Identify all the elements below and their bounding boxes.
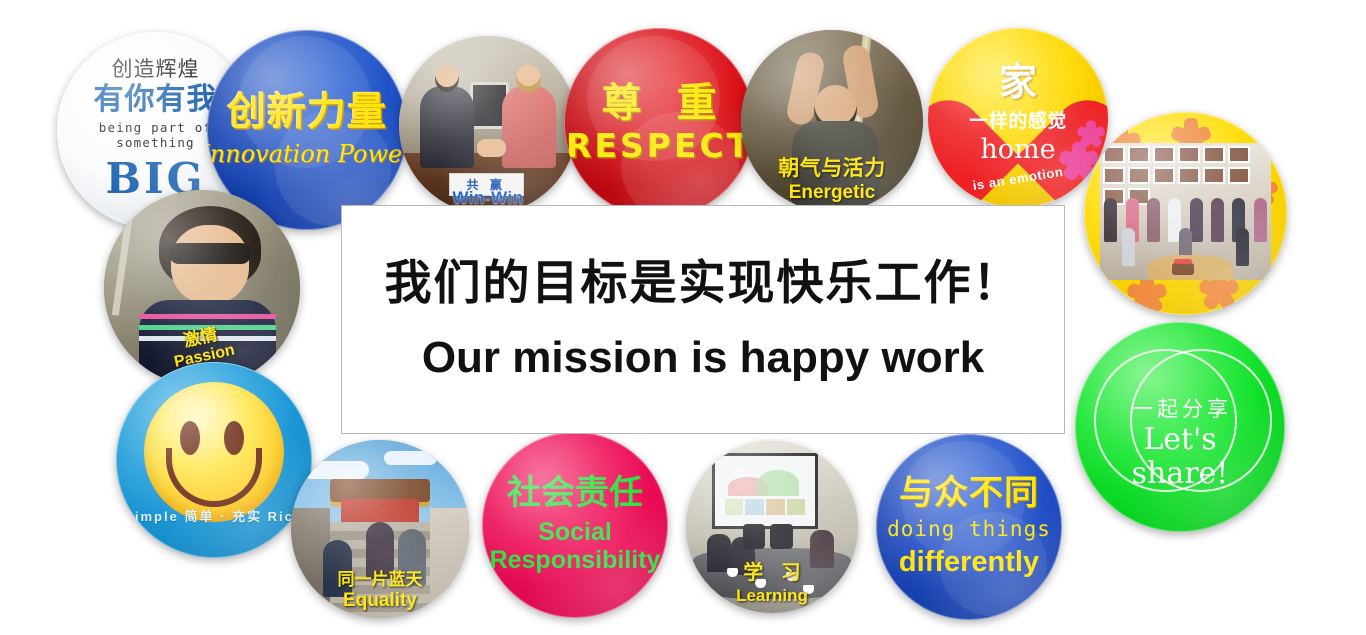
equality-en: Equality <box>291 590 469 612</box>
differently-en-2: differently <box>899 546 1039 579</box>
energetic-en: Energetic <box>741 182 923 204</box>
social-en-1: Social <box>538 519 612 547</box>
badge-equality[interactable]: 同一片蓝天 Equality <box>291 440 469 618</box>
badge-learning[interactable]: 学 习 Learning <box>686 441 858 613</box>
culture-wall-canvas: 创造辉煌 有你有我 being part of something BIG 创新… <box>0 0 1366 635</box>
flower-icon <box>1064 142 1094 172</box>
team-photo-image <box>1100 143 1271 280</box>
social-en-2: Responsibility <box>490 547 661 575</box>
smiley-caption-arc: Simple 简单 · 充实 Rich <box>116 506 312 550</box>
mission-line-cn: 我们的目标是实现快乐工作！ <box>385 256 1022 312</box>
differently-en-1: doing things <box>887 517 1051 541</box>
badge-passion[interactable]: 激情 Passion <box>104 190 300 386</box>
badge-social-responsibility[interactable]: 社会责任 Social Responsibility <box>482 432 668 618</box>
badge-doing-things-differently[interactable]: 与众不同 doing things differently <box>876 434 1062 620</box>
badge-team-photo[interactable] <box>1084 112 1287 315</box>
mission-line-en: Our mission is happy work <box>422 333 984 383</box>
respect-cn: 尊 重 <box>589 82 728 124</box>
badge-energetic[interactable]: 朝气与活力 Energetic <box>741 30 923 212</box>
innovation-en: Innovation Power <box>207 140 407 168</box>
big-line-2: 有你有我 <box>94 83 218 118</box>
share-en-1: Let's <box>1143 423 1216 458</box>
smiley-caption: Simple 简单 · 充实 Rich <box>124 506 304 525</box>
energetic-cn: 朝气与活力 <box>741 152 923 182</box>
learning-cn: 学 习 <box>686 556 858 585</box>
mission-banner: 我们的目标是实现快乐工作！ Our mission is happy work <box>341 205 1065 434</box>
share-en-2: share! <box>1132 457 1229 492</box>
equality-cn: 同一片蓝天 <box>291 565 469 590</box>
big-line-1: 创造辉煌 <box>112 58 200 81</box>
home-en: home <box>980 134 1055 165</box>
respect-en: RESPECT <box>566 126 752 165</box>
flower-icon <box>1081 121 1102 142</box>
badge-home-is-an-emotion[interactable]: 家 一样的感觉 home is an emotion <box>928 28 1108 208</box>
badge-win-win[interactable]: 共 赢 Win-Win <box>399 36 577 214</box>
home-cn-big: 家 <box>999 64 1037 102</box>
smiley-face-icon <box>144 382 284 522</box>
learning-en: Learning <box>686 586 858 606</box>
innovation-cn: 创新力量 <box>227 92 387 135</box>
share-cn: 一起分享 <box>1128 393 1232 423</box>
social-cn: 社会责任 <box>507 476 643 512</box>
differently-cn: 与众不同 <box>899 475 1039 512</box>
badge-respect[interactable]: 尊 重 RESPECT <box>564 28 754 218</box>
badge-simple-and-rich[interactable]: Simple 简单 · 充实 Rich <box>116 362 312 558</box>
home-cn-sub: 一样的感觉 <box>969 106 1067 133</box>
badge-lets-share[interactable]: 一起分享 Let's share! <box>1075 322 1285 532</box>
